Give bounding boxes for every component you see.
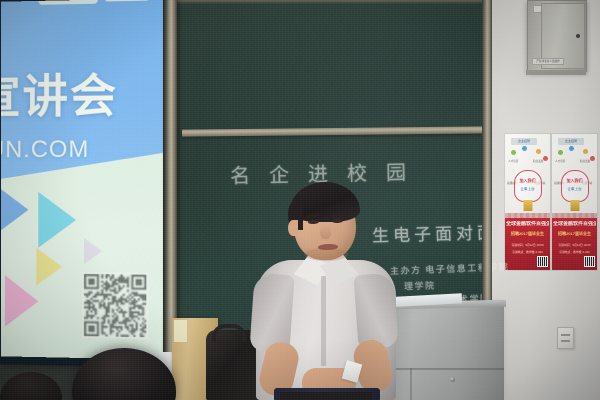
poster-banner-line-1: 全球金融软件百强企业	[506, 221, 549, 228]
triangle-cyan-shape	[38, 192, 76, 248]
presenter-sleeve-right	[353, 273, 398, 350]
bulb-line-2: 让事上台	[515, 187, 541, 192]
projection-screen: 宣讲会 UN.COM	[1, 0, 164, 360]
poster-header: 企业招聘	[511, 138, 537, 145]
lectern-seam	[410, 368, 412, 400]
poster-dot	[511, 150, 516, 155]
poster-dot	[569, 146, 574, 151]
triangle-lavender-shape	[84, 238, 102, 264]
bulb-line-1: 加入我们	[562, 178, 588, 184]
cabinet-label-bottom: 严禁非专业人员操作	[532, 58, 564, 65]
lightbulb-graphic: 加入我们 让事上台	[561, 170, 589, 202]
poster-dot	[583, 149, 588, 154]
presenter-belt	[280, 392, 372, 400]
wooden-stand-tag	[174, 320, 187, 342]
poster-top-section: 企业招聘 人才培养 职业发展 薪酬福利 培训体系 加入我们 让事上台	[505, 134, 550, 213]
lightbulb-graphic: 加入我们 让事上台	[514, 170, 542, 202]
poster-top-section: 企业招聘 人才培养 职业发展 薪酬福利 培训体系 加入我们 让事上台	[552, 134, 597, 213]
slide-headline: 宣讲会	[1, 70, 118, 123]
presenter-sleeve-left	[249, 273, 294, 354]
qr-code-icon	[82, 272, 148, 339]
backpack-strap	[212, 324, 246, 342]
poster-dot	[543, 156, 548, 161]
poster-stripe	[552, 213, 597, 218]
lectern-seam	[388, 368, 504, 370]
presenter-shirt-placket	[321, 276, 326, 366]
poster-qr-icon	[537, 256, 548, 267]
wall-outlet[interactable]	[557, 327, 574, 349]
triangle-blue-shape	[1, 176, 28, 244]
bulb-base	[570, 200, 579, 211]
bulb-line-1: 加入我们	[515, 178, 541, 184]
poster-banner-line-2: 招聘2017届毕业生	[553, 231, 596, 237]
poster-banner-line-4: 宣讲地点：教学楼 A-301	[554, 250, 595, 254]
cabinet-base	[526, 70, 586, 75]
triangle-pink-shape	[5, 275, 38, 327]
qr-code-canvas	[84, 274, 146, 337]
classroom-photo: 多媒体控制箱 严禁非专业人员操作 企业招聘 人才培养 职业发展 薪酬福利 培训体…	[0, 0, 600, 400]
presenter	[252, 182, 402, 400]
outlet-slot	[561, 334, 570, 336]
poster-banner: 全球金融软件百强企业 招聘2017届毕业生 宣讲时间：9月12日 19:00 宣…	[552, 213, 597, 270]
poster-banner-line-1: 全球金融软件百强企业	[553, 221, 596, 228]
outlet-slot	[561, 340, 570, 342]
poster-dot	[536, 149, 541, 154]
recruitment-poster: 企业招聘 人才培养 职业发展 薪酬福利 培训体系 加入我们 让事上台 全球金融软…	[551, 133, 598, 271]
poster-banner: 全球金融软件百强企业 招聘2017届毕业生 宣讲时间：9月12日 19:00 宣…	[505, 213, 550, 270]
recruitment-poster: 企业招聘 人才培养 职业发展 薪酬福利 培训体系 加入我们 让事上台 全球金融软…	[504, 133, 551, 271]
lectern-cabinet[interactable]	[388, 306, 504, 400]
poster-header: 企业招聘	[558, 138, 584, 145]
cabinet-lock-icon	[576, 34, 580, 38]
electrical-cabinet[interactable]: 多媒体控制箱 严禁非专业人员操作	[527, 0, 587, 72]
audience-head	[0, 372, 62, 400]
poster-stripe	[505, 213, 550, 218]
poster-banner-line-3: 宣讲时间：9月12日 19:00	[554, 243, 595, 247]
poster-banner-line-3: 宣讲时间：9月12日 19:00	[507, 243, 548, 247]
presenter-nose	[320, 225, 331, 239]
presenter-ear	[288, 220, 298, 236]
poster-dot	[558, 150, 563, 155]
triangle-yellow-shape	[36, 248, 62, 286]
poster-dot	[590, 156, 595, 161]
bulb-line-2: 让事上台	[562, 187, 588, 192]
bulb-base	[523, 200, 532, 211]
blackboard-top-edge	[168, 0, 486, 4]
slide-url: UN.COM	[1, 136, 89, 164]
poster-banner-line-2: 招聘2017届毕业生	[506, 231, 549, 237]
poster-banner-line-4: 宣讲地点：教学楼 A-301	[507, 250, 548, 254]
lectern-lock-icon[interactable]	[450, 377, 455, 382]
poster-dot	[522, 146, 527, 151]
poster-qr-icon	[584, 256, 595, 267]
